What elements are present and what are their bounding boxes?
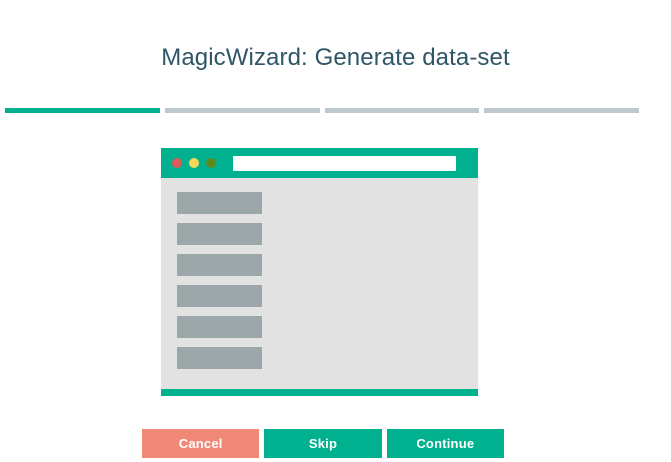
content-placeholder-bar-1 [177,192,262,214]
content-placeholder-bar-4 [177,285,262,307]
zoom-dot-icon[interactable] [206,158,216,168]
browser-footer-bar [161,389,478,396]
progress-step-3[interactable] [325,108,480,113]
browser-content-area [161,178,478,389]
content-placeholder-bar-3 [177,254,262,276]
content-placeholder-bar-2 [177,223,262,245]
close-dot-icon[interactable] [172,158,182,168]
progress-step-1[interactable] [5,108,160,113]
address-bar-input[interactable] [233,156,456,171]
wizard-progress-steps [5,108,639,113]
page-title: MagicWizard: Generate data-set [0,42,671,74]
content-placeholder-bar-5 [177,316,262,338]
browser-titlebar [161,148,478,178]
progress-step-4[interactable] [484,108,639,113]
progress-step-2[interactable] [165,108,320,113]
wizard-action-bar: CancelSkipContinue [142,429,504,458]
browser-preview-mockup [161,148,478,396]
minimize-dot-icon[interactable] [189,158,199,168]
skip-button[interactable]: Skip [264,429,381,458]
content-placeholder-bar-6 [177,347,262,369]
cancel-button[interactable]: Cancel [142,429,259,458]
continue-button[interactable]: Continue [387,429,504,458]
